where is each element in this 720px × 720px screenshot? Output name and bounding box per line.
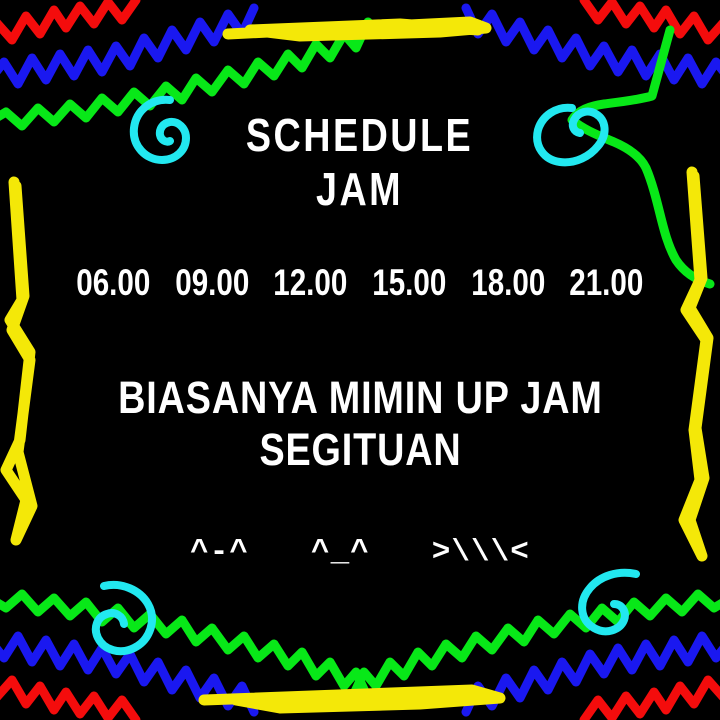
poster-content: SCHEDULE JAM 06.00 09.00 12.00 15.00 18.… [0, 0, 720, 720]
schedule-times-row: 06.00 09.00 12.00 15.00 18.00 21.00 [64, 262, 656, 304]
schedule-time: 12.00 [271, 262, 350, 304]
emoticon-row: ^-^ ^_^ >\\\< [190, 535, 530, 570]
schedule-time: 18.00 [468, 262, 547, 304]
schedule-time: 09.00 [173, 262, 252, 304]
message-line-2: SEGITUAN [118, 426, 603, 474]
message-line-1: BIASANYA MIMIN UP JAM [118, 374, 603, 422]
page-subtitle: JAM [246, 166, 473, 212]
emoticon-happy-underscore: ^_^ [311, 535, 370, 570]
poster-canvas: SCHEDULE JAM 06.00 09.00 12.00 15.00 18.… [0, 0, 720, 720]
schedule-time: 21.00 [567, 262, 646, 304]
schedule-time: 15.00 [370, 262, 449, 304]
emoticon-happy-dash: ^-^ [190, 535, 249, 570]
emoticon-squint: >\\\< [432, 535, 530, 570]
message-block: BIASANYA MIMIN UP JAM SEGITUAN [72, 374, 649, 473]
title-block: SCHEDULE JAM [221, 112, 498, 212]
page-title: SCHEDULE [246, 112, 473, 158]
schedule-time: 06.00 [74, 262, 153, 304]
